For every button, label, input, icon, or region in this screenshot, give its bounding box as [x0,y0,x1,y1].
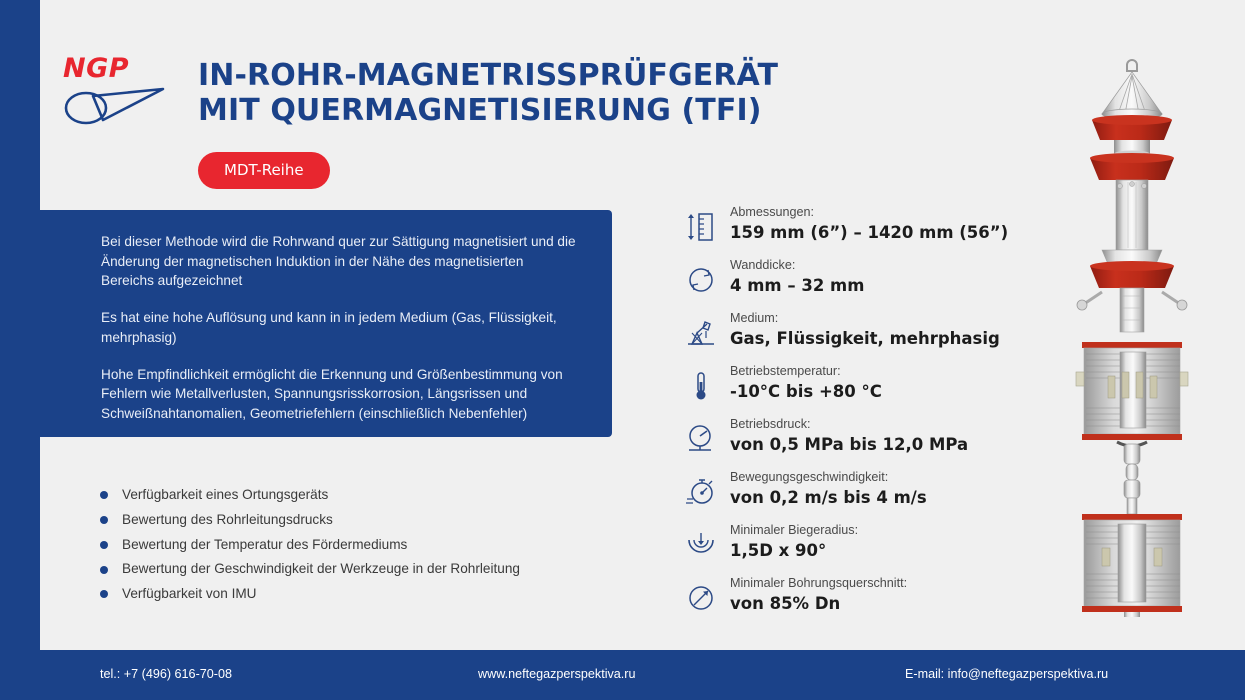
list-item: Verfügbarkeit eines Ortungsgeräts [100,487,620,503]
spec-value: -10°C bis +80 °C [730,381,882,402]
spec-row-temperature: Betriebstemperatur: -10°C bis +80 °C [683,362,1023,406]
header: NGP IN-ROHR-MAGNETRISSPRÜFGERÄT MIT QUER… [0,0,1245,210]
spec-value: 159 mm (6”) – 1420 mm (56”) [730,222,1008,243]
spec-label: Betriebstemperatur: [730,364,841,378]
footer-phone[interactable]: tel.: +7 (496) 616-70-08 [100,667,232,681]
page-title-line2: MIT QUERMAGNETISIERUNG (TFI) [198,93,778,128]
thermometer-icon [683,366,719,406]
feature-list: Verfügbarkeit eines Ortungsgeräts Bewert… [100,487,620,611]
description-paragraph: Bei dieser Methode wird die Rohrwand que… [101,232,576,291]
bullet-dot-icon [100,491,108,499]
list-item-label: Bewertung der Geschwindigkeit der Werkze… [122,561,520,577]
footer-website[interactable]: www.neftegazperspektiva.ru [478,667,636,681]
spec-row-bend-radius: Minimaler Biegeradius: 1,5D x 90° [683,521,1023,565]
spec-value: 4 mm – 32 mm [730,275,864,296]
bore-diameter-icon [683,578,719,618]
description-box: Bei dieser Methode wird die Rohrwand que… [40,210,612,437]
ruler-icon [683,207,719,247]
spec-label: Medium: [730,311,778,325]
spec-row-medium: Medium: Gas, Flüssigkeit, mehrphasig [683,309,1023,353]
stopwatch-icon [683,472,719,512]
bullet-dot-icon [100,541,108,549]
spec-label: Minimaler Biegeradius: [730,523,858,537]
spec-row-bore: Minimaler Bohrungsquerschnitt: von 85% D… [683,574,1023,618]
spec-value: Gas, Flüssigkeit, mehrphasig [730,328,1000,349]
description-paragraph: Hohe Empfindlichkeit ermöglicht die Erke… [101,365,576,424]
pipe-logo-mark-icon [63,85,168,127]
spec-label: Betriebsdruck: [730,417,811,431]
footer-email[interactable]: E-mail: info@neftegazperspektiva.ru [905,667,1108,681]
spec-label: Bewegungsgeschwindigkeit: [730,470,888,484]
wall-thickness-icon [683,260,719,300]
footer: tel.: +7 (496) 616-70-08 www.neftegazper… [0,650,1245,700]
bend-radius-icon [683,525,719,565]
list-item: Bewertung der Temperatur des Fördermediu… [100,537,620,553]
list-item-label: Bewertung der Temperatur des Fördermediu… [122,537,407,553]
page-title: IN-ROHR-MAGNETRISSPRÜFGERÄT MIT QUERMAGN… [198,58,778,128]
spec-row-wall-thickness: Wanddicke: 4 mm – 32 mm [683,256,1023,300]
spec-row-dimensions: Abmessungen: 159 mm (6”) – 1420 mm (56”) [683,203,1023,247]
spec-row-pressure: Betriebsdruck: von 0,5 MPa bis 12,0 MPa [683,415,1023,459]
spec-value: von 0,5 MPa bis 12,0 MPa [730,434,968,455]
list-item: Bewertung der Geschwindigkeit der Werkze… [100,561,620,577]
spec-value: 1,5D x 90° [730,540,858,561]
spec-value: von 0,2 m/s bis 4 m/s [730,487,927,508]
series-badge[interactable]: MDT-Reihe [198,152,330,189]
description-paragraph: Es hat eine hohe Auflösung und kann in i… [101,308,576,347]
list-item-label: Verfügbarkeit von IMU [122,586,257,602]
spec-label: Minimaler Bohrungsquerschnitt: [730,576,907,590]
spec-label: Abmessungen: [730,205,814,219]
pumpjack-icon [683,313,719,353]
list-item-label: Verfügbarkeit eines Ortungsgeräts [122,487,328,503]
list-item: Bewertung des Rohrleitungsdrucks [100,512,620,528]
bullet-dot-icon [100,566,108,574]
device-image [1062,52,1207,617]
spec-row-speed: Bewegungsgeschwindigkeit: von 0,2 m/s bi… [683,468,1023,512]
spec-value: von 85% Dn [730,593,907,614]
spec-label: Wanddicke: [730,258,795,272]
list-item-label: Bewertung des Rohrleitungsdrucks [122,512,333,528]
bullet-dot-icon [100,516,108,524]
pressure-gauge-icon [683,419,719,459]
spec-list: Abmessungen: 159 mm (6”) – 1420 mm (56”)… [683,203,1023,627]
page-title-line1: IN-ROHR-MAGNETRISSPRÜFGERÄT [198,58,778,93]
logo-wordmark: NGP [63,55,173,82]
bullet-dot-icon [100,590,108,598]
list-item: Verfügbarkeit von IMU [100,586,620,602]
ngp-logo[interactable]: NGP [63,55,173,127]
